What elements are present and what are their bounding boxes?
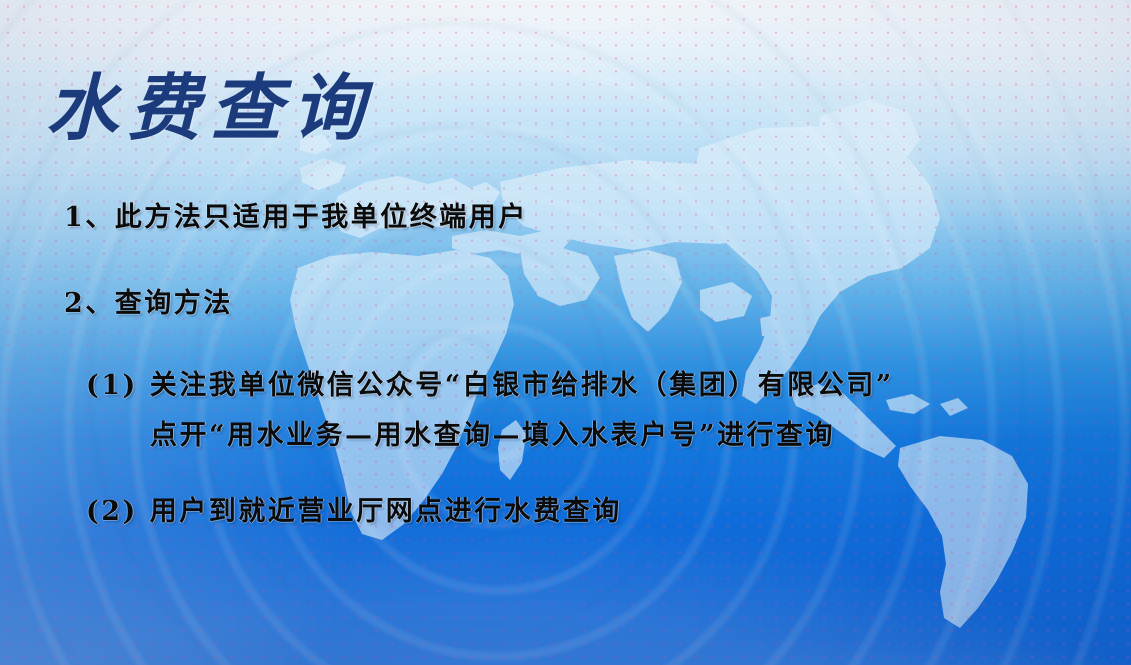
bullet-item-2-sub-1-line-1: (1) 关注我单位微信公众号“白银市给排水（集团）有限公司” [86, 372, 894, 399]
bullet-item-2-sub-2: (2) 用户到就近营业厅网点进行水费查询 [86, 498, 622, 525]
bullet-item-1: 1、此方法只适用于我单位终端用户 [64, 204, 528, 231]
slide-canvas: 水费查询 1、此方法只适用于我单位终端用户 2、查询方法 (1) 关注我单位微信… [0, 0, 1131, 665]
slide-content: 水费查询 1、此方法只适用于我单位终端用户 2、查询方法 (1) 关注我单位微信… [0, 0, 1131, 665]
bullet-item-2: 2、查询方法 [64, 290, 233, 317]
bullet-item-2-sub-1-line-2: 点开“用水业务—用水查询—填入水表户号”进行查询 [150, 422, 835, 449]
slide-title: 水费查询 [46, 72, 374, 144]
